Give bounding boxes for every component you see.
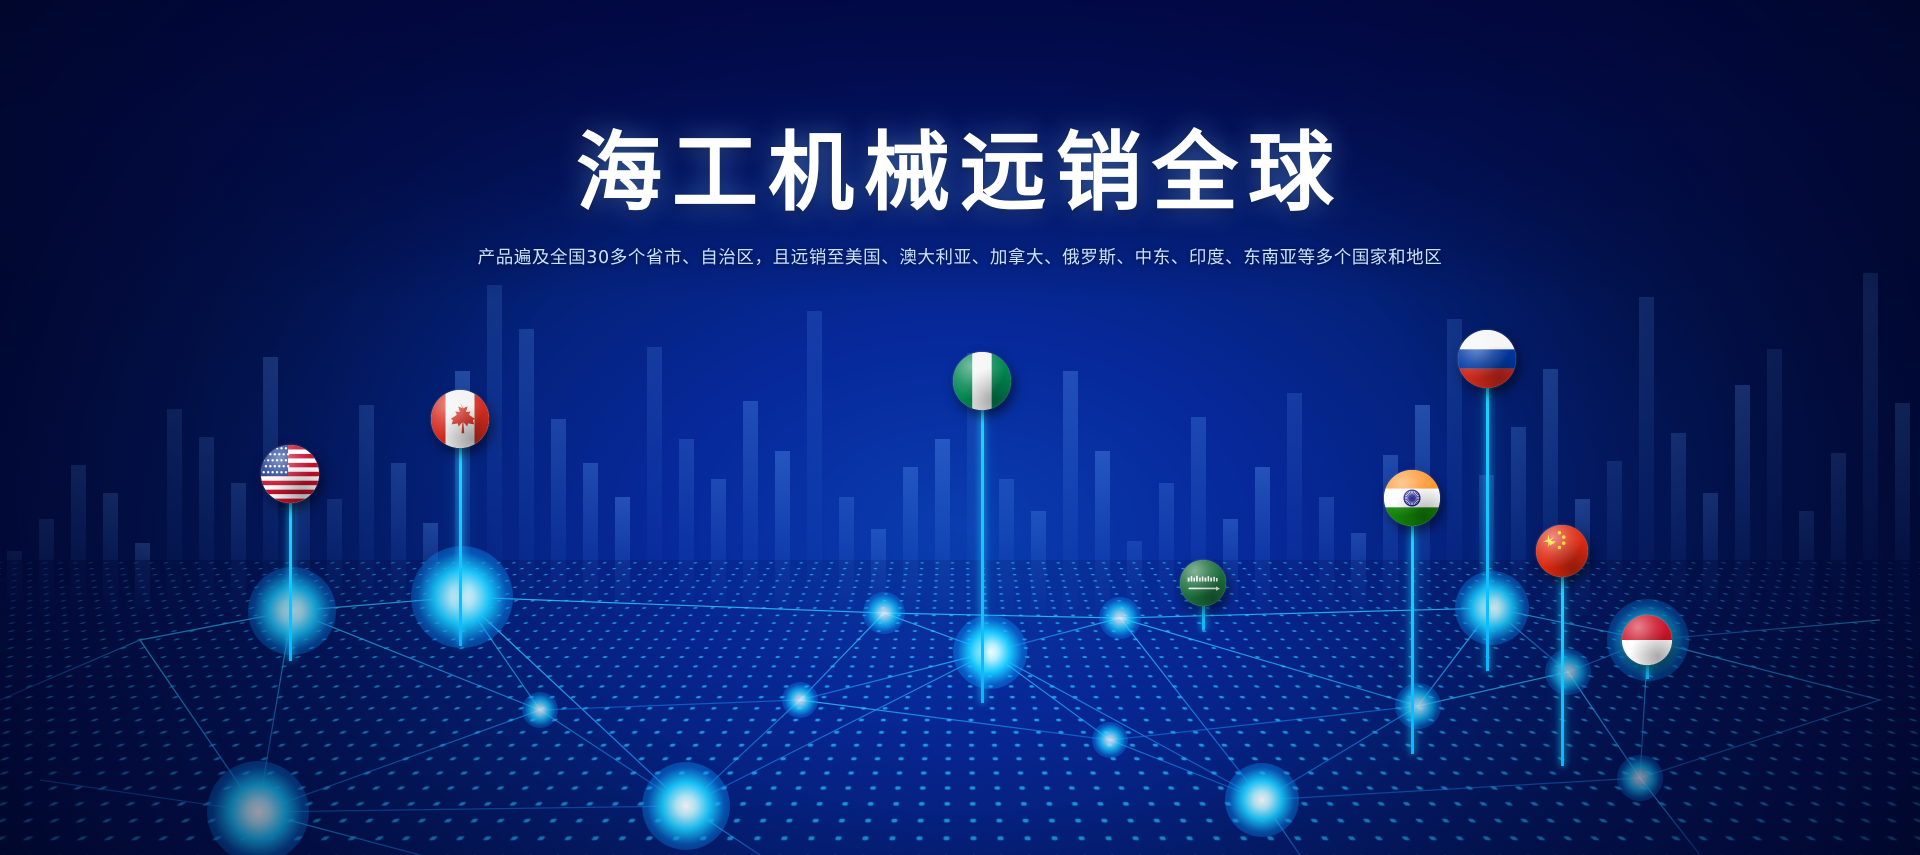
map-flag-pin[interactable]	[1458, 330, 1516, 678]
page-title: 海工机械远销全球	[0, 128, 1920, 218]
flag-gloss	[261, 445, 319, 503]
pin-stem	[1411, 519, 1414, 754]
flag-russia-icon[interactable]	[1458, 330, 1516, 388]
map-node-glow	[863, 592, 905, 634]
pin-stem	[1561, 571, 1564, 766]
flag-gloss	[1536, 525, 1588, 577]
map-node-glow	[522, 692, 558, 728]
global-sales-banner: 海工机械远销全球 产品遍及全国30多个省市、自治区，且远销至美国、澳大利亚、加拿…	[0, 0, 1920, 855]
map-flag-pin[interactable]	[1180, 560, 1226, 636]
map-flag-pin[interactable]	[261, 445, 319, 668]
flag-nigeria-icon[interactable]	[953, 352, 1011, 410]
flag-gloss	[1458, 330, 1516, 388]
flag-gloss	[953, 352, 1011, 410]
flag-gloss	[1622, 615, 1672, 665]
flag-gloss	[1384, 470, 1440, 526]
pin-stem	[459, 441, 462, 646]
map-node-glow	[782, 682, 818, 718]
map-node-glow	[1092, 722, 1128, 758]
flag-canada-icon[interactable]	[431, 390, 489, 448]
flag-saudi-icon[interactable]	[1180, 560, 1226, 606]
map-node-glow	[1099, 597, 1141, 639]
map-node-glow	[1225, 763, 1300, 838]
pin-stem	[1486, 381, 1489, 671]
flag-gloss	[1180, 560, 1226, 606]
flag-china-icon[interactable]	[1536, 525, 1588, 577]
headline-block: 海工机械远销全球 产品遍及全国30多个省市、自治区，且远销至美国、澳大利亚、加拿…	[0, 128, 1920, 269]
flag-indonesia-icon[interactable]	[1622, 615, 1672, 665]
pin-stem	[981, 403, 984, 703]
map-flag-pin[interactable]	[1622, 615, 1672, 685]
flag-usa-icon[interactable]	[261, 445, 319, 503]
flag-gloss	[431, 390, 489, 448]
map-flag-pin[interactable]	[1536, 525, 1588, 772]
map-flag-pin[interactable]	[953, 352, 1011, 710]
map-node-glow	[642, 762, 730, 850]
map-node-glow	[207, 761, 309, 855]
map-flag-pin[interactable]	[1384, 470, 1440, 761]
map-flag-pin[interactable]	[431, 390, 489, 653]
page-subtitle: 产品遍及全国30多个省市、自治区，且远销至美国、澳大利亚、加拿大、俄罗斯、中东、…	[0, 244, 1920, 269]
pin-stem	[289, 496, 292, 661]
flag-india-icon[interactable]	[1384, 470, 1440, 526]
